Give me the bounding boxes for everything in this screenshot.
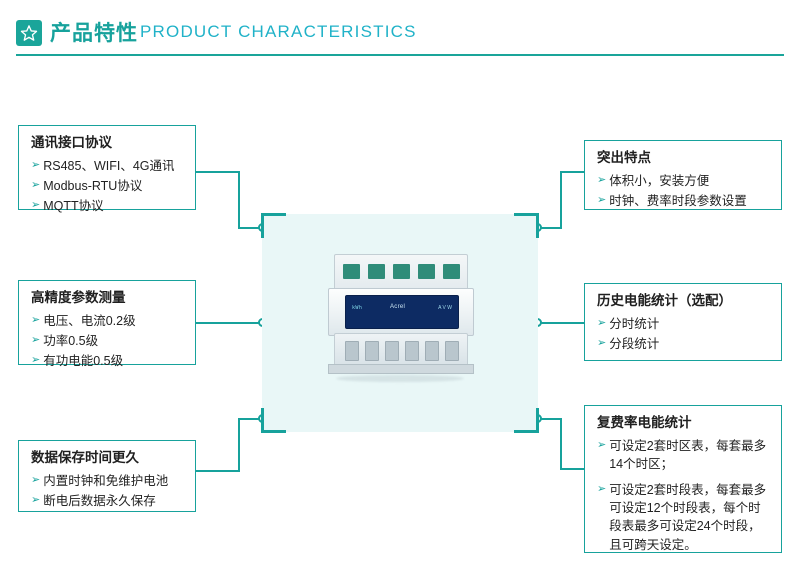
page-header: 产品特性 PRODUCT CHARACTERISTICS bbox=[0, 0, 800, 62]
feature-item-label: RS485、WIFI、4G通讯 bbox=[43, 157, 183, 175]
feature-item: ➢ 可设定2套时区表，每套最多14个时区； bbox=[597, 437, 769, 473]
feature-item-label: 体积小，安装方便 bbox=[609, 172, 769, 190]
bullet-icon: ➢ bbox=[597, 481, 606, 498]
feature-title: 通讯接口协议 bbox=[31, 135, 183, 152]
meter-lcd-display: kWh Acrel A V W bbox=[345, 295, 459, 329]
bullet-icon: ➢ bbox=[31, 197, 40, 214]
feature-item-label: 可设定2套时区表，每套最多14个时区； bbox=[609, 437, 769, 473]
bullet-icon: ➢ bbox=[597, 315, 606, 332]
meter-terminal-block-bottom bbox=[334, 333, 468, 367]
feature-box-multi-rate-energy-statistics: 复费率电能统计 ➢ 可设定2套时区表，每套最多14个时区； ➢ 可设定2套时段表… bbox=[584, 405, 782, 553]
panel-corner bbox=[261, 213, 286, 238]
bullet-icon: ➢ bbox=[597, 437, 606, 454]
feature-title: 历史电能统计（选配） bbox=[597, 293, 769, 310]
connector-line bbox=[196, 470, 240, 472]
panel-corner bbox=[514, 408, 539, 433]
feature-title: 复费率电能统计 bbox=[597, 415, 769, 432]
page-title-cn: 产品特性 bbox=[50, 17, 138, 47]
header-divider bbox=[16, 54, 784, 56]
panel-corner bbox=[514, 213, 539, 238]
feature-title: 数据保存时间更久 bbox=[31, 450, 183, 467]
feature-item: ➢ 内置时钟和免维护电池 bbox=[31, 472, 183, 490]
feature-item: ➢ 体积小，安装方便 bbox=[597, 172, 769, 190]
feature-item-label: 分段统计 bbox=[609, 335, 769, 353]
feature-title: 高精度参数测量 bbox=[31, 290, 183, 307]
feature-box-outstanding-features: 突出特点 ➢ 体积小，安装方便 ➢ 时钟、费率时段参数设置 bbox=[584, 140, 782, 210]
connector-line bbox=[238, 418, 240, 472]
connector-line bbox=[560, 418, 562, 470]
feature-item: ➢ 可设定2套时段表，每套最多可设定12个时段表，每个时段表最多可设定24个时段… bbox=[597, 481, 769, 554]
connector-line bbox=[560, 171, 584, 173]
connector-line bbox=[560, 468, 584, 470]
feature-item-label: Modbus-RTU协议 bbox=[43, 177, 183, 195]
feature-item: ➢ Modbus-RTU协议 bbox=[31, 177, 183, 195]
feature-item: ➢ 电压、电流0.2级 bbox=[31, 312, 183, 330]
connector-line bbox=[196, 322, 264, 324]
feature-item-label: 时钟、费率时段参数设置 bbox=[609, 192, 769, 210]
meter-shadow bbox=[336, 375, 464, 382]
meter-terminal-block-top bbox=[334, 254, 468, 292]
feature-item-label: 可设定2套时段表，每套最多可设定12个时段表，每个时段表最多可设定24个时段，且… bbox=[609, 481, 769, 554]
feature-item: ➢ 功率0.5级 bbox=[31, 332, 183, 350]
feature-title: 突出特点 bbox=[597, 150, 769, 167]
feature-box-communication-protocol: 通讯接口协议 ➢ RS485、WIFI、4G通讯 ➢ Modbus-RTU协议 … bbox=[18, 125, 196, 210]
feature-item-label: 电压、电流0.2级 bbox=[43, 312, 183, 330]
bullet-icon: ➢ bbox=[31, 332, 40, 349]
connector-line bbox=[238, 171, 240, 229]
lcd-brand-text: Acrel bbox=[390, 304, 405, 310]
feature-box-historical-energy-statistics: 历史电能统计（选配） ➢ 分时统计 ➢ 分段统计 bbox=[584, 283, 782, 361]
feature-item: ➢ 有功电能0.5级 bbox=[31, 352, 183, 370]
bullet-icon: ➢ bbox=[597, 172, 606, 189]
bullet-icon: ➢ bbox=[31, 177, 40, 194]
feature-item-label: 功率0.5级 bbox=[43, 332, 183, 350]
bullet-icon: ➢ bbox=[31, 492, 40, 509]
bullet-icon: ➢ bbox=[31, 157, 40, 174]
product-image-panel: kWh Acrel A V W bbox=[262, 214, 538, 432]
meter-front-panel: kWh Acrel A V W bbox=[328, 288, 474, 336]
feature-box-data-retention: 数据保存时间更久 ➢ 内置时钟和免维护电池 ➢ 断电后数据永久保存 bbox=[18, 440, 196, 512]
feature-item-label: 分时统计 bbox=[609, 315, 769, 333]
meter-din-rail bbox=[328, 364, 474, 374]
panel-corner bbox=[261, 408, 286, 433]
bullet-icon: ➢ bbox=[31, 312, 40, 329]
feature-item: ➢ 分段统计 bbox=[597, 335, 769, 353]
star-icon bbox=[16, 20, 42, 46]
page-title-en: PRODUCT CHARACTERISTICS bbox=[140, 22, 417, 42]
feature-item: ➢ RS485、WIFI、4G通讯 bbox=[31, 157, 183, 175]
feature-item-label: 有功电能0.5级 bbox=[43, 352, 183, 370]
lcd-right-text: A V W bbox=[438, 305, 452, 311]
feature-item-label: MQTT协议 bbox=[43, 197, 183, 215]
feature-item: ➢ MQTT协议 bbox=[31, 197, 183, 215]
connector-line bbox=[196, 171, 240, 173]
feature-box-high-precision-measurement: 高精度参数测量 ➢ 电压、电流0.2级 ➢ 功率0.5级 ➢ 有功电能0.5级 bbox=[18, 280, 196, 365]
feature-item: ➢ 断电后数据永久保存 bbox=[31, 492, 183, 510]
din-rail-energy-meter-image: kWh Acrel A V W bbox=[322, 254, 478, 394]
feature-item-label: 内置时钟和免维护电池 bbox=[43, 472, 183, 490]
connector-line bbox=[560, 171, 562, 229]
connector-line bbox=[536, 322, 584, 324]
feature-item: ➢ 时钟、费率时段参数设置 bbox=[597, 192, 769, 210]
bullet-icon: ➢ bbox=[31, 352, 40, 369]
bullet-icon: ➢ bbox=[31, 472, 40, 489]
lcd-left-text: kWh bbox=[352, 305, 362, 311]
feature-item: ➢ 分时统计 bbox=[597, 315, 769, 333]
bullet-icon: ➢ bbox=[597, 192, 606, 209]
bullet-icon: ➢ bbox=[597, 335, 606, 352]
feature-item-label: 断电后数据永久保存 bbox=[43, 492, 183, 510]
